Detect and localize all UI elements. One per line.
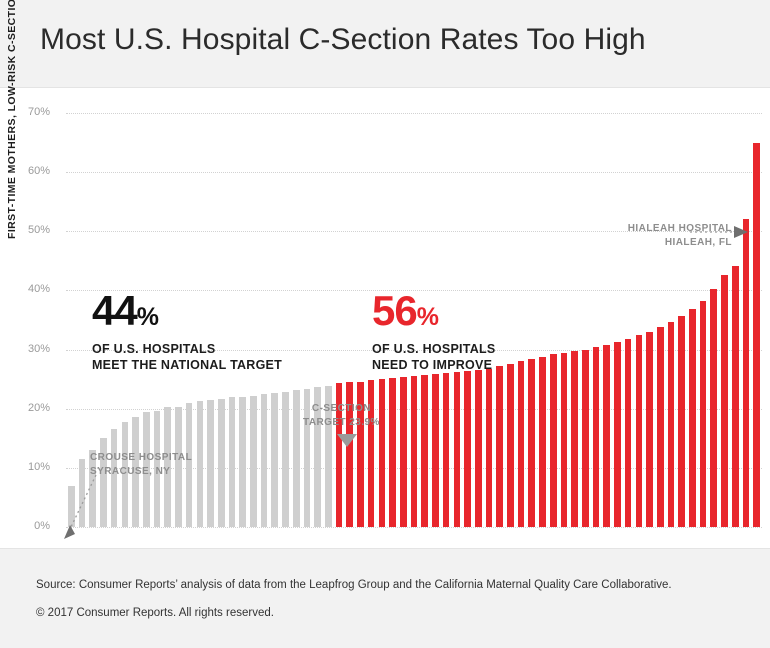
bar xyxy=(657,327,664,527)
bar xyxy=(207,400,214,527)
bar xyxy=(571,351,578,527)
bar xyxy=(400,377,407,527)
bar xyxy=(454,372,461,527)
stat-line1-44: OF U.S. HOSPITALS xyxy=(92,341,282,357)
bar xyxy=(614,342,621,527)
annotation-target: C-SECTION TARGET 23.9% xyxy=(303,402,380,429)
bar xyxy=(625,339,632,527)
bar xyxy=(507,364,514,527)
bar xyxy=(443,373,450,527)
bar xyxy=(550,354,557,527)
bar xyxy=(218,399,225,527)
bar xyxy=(111,429,118,527)
bar xyxy=(646,332,653,527)
bar xyxy=(668,322,675,527)
bar xyxy=(389,378,396,527)
chart-stage: FIRST-TIME MOTHERS, LOW-RISK C-SECTION R… xyxy=(0,89,770,541)
header-band: Most U.S. Hospital C-Section Rates Too H… xyxy=(0,0,770,88)
annotation-crouse-line1: CROUSE HOSPITAL xyxy=(90,451,192,465)
bar xyxy=(197,401,204,527)
bar xyxy=(464,371,471,527)
stat-line2-56: NEED TO IMPROVE xyxy=(372,357,495,373)
stat-number-44-percent: % xyxy=(137,303,159,331)
annotation-crouse: CROUSE HOSPITAL SYRACUSE, NY xyxy=(90,451,192,478)
bar xyxy=(496,366,503,527)
bar xyxy=(603,345,610,527)
stat-number-56: 56% xyxy=(372,290,495,332)
stat-number-44-value: 44 xyxy=(92,287,137,334)
stat-body-56: OF U.S. HOSPITALS NEED TO IMPROVE xyxy=(372,341,495,373)
gridline xyxy=(66,527,762,528)
y-axis-tick-label: 0% xyxy=(2,520,50,532)
stat-number-44: 44% xyxy=(92,290,282,332)
bar xyxy=(229,397,236,527)
bar xyxy=(732,266,739,527)
triangle-down-icon xyxy=(337,434,357,447)
bar xyxy=(721,275,728,527)
bar xyxy=(421,375,428,527)
y-axis-tick-label: 70% xyxy=(2,106,50,118)
stat-body-44: OF U.S. HOSPITALS MEET THE NATIONAL TARG… xyxy=(92,341,282,373)
footer-copyright-text: © 2017 Consumer Reports. All rights rese… xyxy=(36,607,274,619)
y-axis-tick-label: 60% xyxy=(2,165,50,177)
bar xyxy=(539,357,546,527)
bar xyxy=(475,370,482,527)
stat-callout-above-target: 56% OF U.S. HOSPITALS NEED TO IMPROVE xyxy=(372,290,495,373)
bar xyxy=(743,219,750,527)
bar xyxy=(250,396,257,527)
bar xyxy=(282,392,289,527)
y-axis-tick-label: 40% xyxy=(2,283,50,295)
bar xyxy=(486,369,493,528)
bar xyxy=(753,143,760,527)
leader-line-hialeah-arrow-icon xyxy=(690,225,752,239)
annotation-target-line2: TARGET 23.9% xyxy=(303,416,380,430)
bar xyxy=(561,353,568,527)
y-axis-tick-label: 20% xyxy=(2,402,50,414)
annotation-target-line1: C-SECTION xyxy=(303,402,380,416)
bar xyxy=(700,301,707,527)
page-title: Most U.S. Hospital C-Section Rates Too H… xyxy=(40,23,646,57)
y-axis-tick-label: 30% xyxy=(2,343,50,355)
stat-line1-56: OF U.S. HOSPITALS xyxy=(372,341,495,357)
footer-band: Source: Consumer Reports’ analysis of da… xyxy=(0,548,770,648)
bar xyxy=(261,394,268,527)
leader-line-crouse-arrow-icon xyxy=(58,473,98,545)
bar xyxy=(411,376,418,527)
infographic-root: Most U.S. Hospital C-Section Rates Too H… xyxy=(0,0,770,648)
bar xyxy=(528,359,535,527)
bar xyxy=(518,361,525,527)
bar xyxy=(593,347,600,527)
stat-callout-below-target: 44% OF U.S. HOSPITALS MEET THE NATIONAL … xyxy=(92,290,282,373)
bar xyxy=(293,390,300,527)
bar xyxy=(432,374,439,527)
y-axis-title: FIRST-TIME MOTHERS, LOW-RISK C-SECTION R… xyxy=(6,0,18,239)
y-axis-tick-label: 10% xyxy=(2,461,50,473)
bar xyxy=(636,335,643,527)
bar xyxy=(239,397,246,527)
bar xyxy=(582,350,589,527)
annotation-crouse-line2: SYRACUSE, NY xyxy=(90,465,192,479)
y-axis-tick-label: 50% xyxy=(2,224,50,236)
bar xyxy=(678,316,685,527)
bar xyxy=(710,289,717,527)
bar xyxy=(689,309,696,527)
footer-source-text: Source: Consumer Reports’ analysis of da… xyxy=(36,579,672,591)
stat-line2-44: MEET THE NATIONAL TARGET xyxy=(92,357,282,373)
stat-number-56-value: 56 xyxy=(372,287,417,334)
bar xyxy=(271,393,278,527)
stat-number-56-percent: % xyxy=(417,303,439,331)
